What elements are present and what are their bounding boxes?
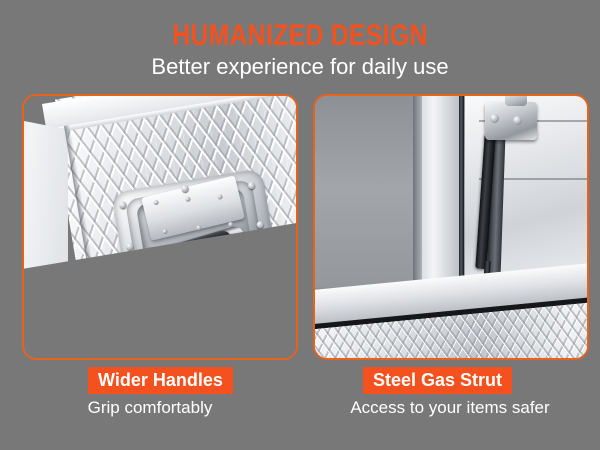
photo-corner-crop [24,278,144,358]
feature-panel-wider-handles [22,94,298,360]
diamond-plate-lid-edge [419,96,461,296]
product-photo-gas-strut [315,96,587,358]
product-photo-handle [24,96,296,358]
bracket-bolt [490,114,499,123]
page-title: HUMANIZED DESIGN [54,20,546,52]
badge-wider-handles: Wider Handles [88,367,233,394]
infographic-canvas: HUMANIZED DESIGN Better experience for d… [0,0,600,450]
bracket-bolt [513,116,522,125]
feature-panel-gas-strut [313,94,589,360]
bracket-cap [505,96,527,106]
page-subtitle: Better experience for daily use [0,54,600,80]
caption-steel-gas-strut: Access to your items safer [300,398,600,418]
badge-steel-gas-strut: Steel Gas Strut [363,367,512,394]
lid-edge-shadow [413,96,422,296]
caption-wider-handles: Grip comfortably [0,398,300,418]
